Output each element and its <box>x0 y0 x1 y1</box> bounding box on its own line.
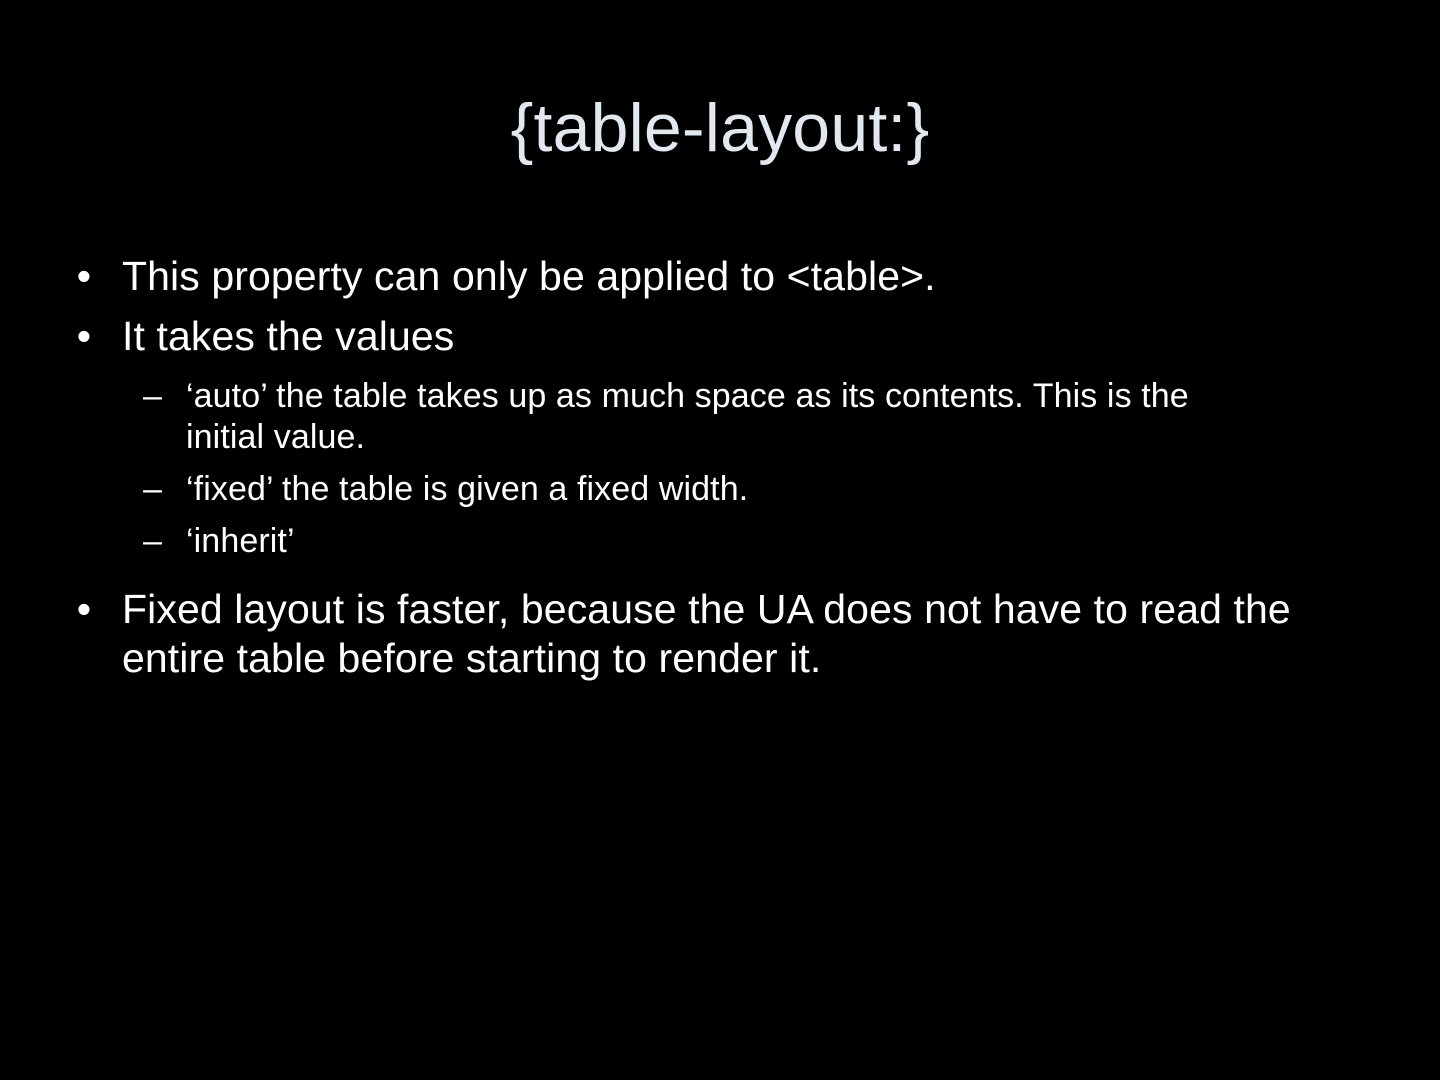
list-item: • It takes the values <box>62 312 1352 361</box>
bullet-dash-icon: – <box>143 521 169 562</box>
bullet-dash-icon: – <box>143 469 169 510</box>
page-title: {table-layout:} <box>0 92 1440 164</box>
list-item: • This property can only be applied to <… <box>62 252 1352 301</box>
list-item-label: It takes the values <box>122 313 454 359</box>
slide-canvas: {table-layout:} • This property can only… <box>0 0 1440 1080</box>
sub-list-item: – ‘fixed’ the table is given a fixed wid… <box>62 469 1226 510</box>
sub-list-item-label: ‘fixed’ the table is given a fixed width… <box>186 470 748 508</box>
bullet-dash-icon: – <box>143 376 169 417</box>
spacer <box>62 573 1382 585</box>
bullet-dot-icon: • <box>75 252 93 301</box>
list-item-label: Fixed layout is faster, because the UA d… <box>122 586 1291 681</box>
sub-list-item-label: ‘inherit’ <box>186 522 295 560</box>
sub-list-item: – ‘inherit’ <box>62 521 1226 562</box>
slide-body: • This property can only be applied to <… <box>62 252 1382 694</box>
bullet-dot-icon: • <box>75 585 93 634</box>
list-item: • Fixed layout is faster, because the UA… <box>62 585 1352 683</box>
bullet-dot-icon: • <box>75 312 93 361</box>
list-item-label: This property can only be applied to <ta… <box>122 253 936 299</box>
sub-list-item: – ‘auto’ the table takes up as much spac… <box>62 376 1226 458</box>
sub-list-item-label: ‘auto’ the table takes up as much space … <box>186 377 1189 456</box>
